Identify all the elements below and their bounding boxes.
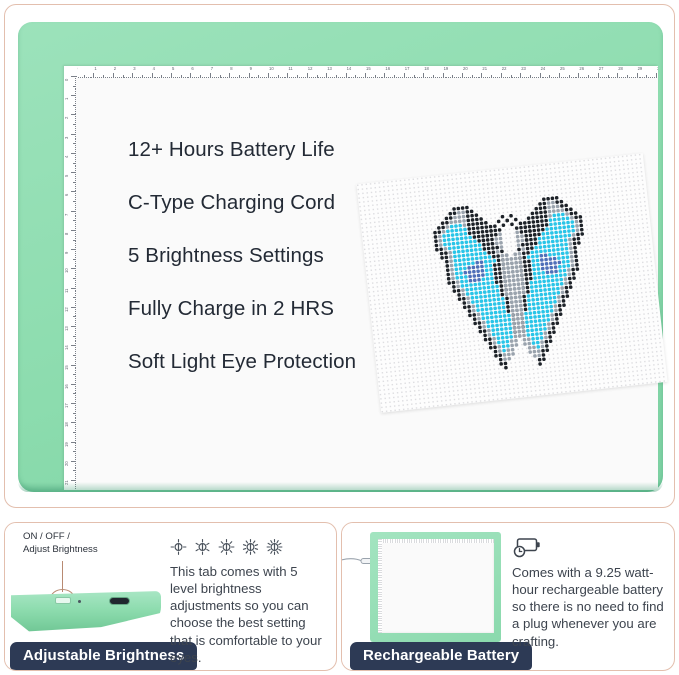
- light-pad-top: [370, 532, 501, 642]
- usb-c-port: [109, 597, 130, 605]
- butterfly-artwork-icon: [356, 153, 667, 413]
- card-body-brightness: This tab comes with 5 level brightness a…: [170, 536, 328, 664]
- brightness-level-icon-4: [242, 538, 259, 556]
- pad-ruler-horizontal: [378, 539, 494, 543]
- callout-line-2: Adjust Brightness: [23, 544, 98, 555]
- callout-line-1: ON / OFF /: [23, 531, 70, 542]
- card-adjustable-brightness: ON / OFF / Adjust Brightness Adjustable …: [4, 522, 337, 671]
- power-button[interactable]: [55, 597, 71, 604]
- light-pad-body: 0123456789101112131415161718192021222324…: [18, 22, 663, 492]
- card-text-brightness: This tab comes with 5 level brightness a…: [170, 563, 328, 666]
- brightness-level-icon-1: [170, 538, 187, 556]
- card-rechargeable-battery: Rechargeable Battery Comes with a 9.25 w…: [341, 522, 675, 671]
- light-pad-screen: [378, 539, 494, 633]
- hero-panel: 0123456789101112131415161718192021222324…: [4, 4, 675, 508]
- brightness-level-icon-2: [194, 538, 211, 556]
- light-pad-edge: [11, 591, 161, 633]
- pad-ruler-vertical: [378, 539, 382, 633]
- led-indicator-icon: [78, 600, 81, 603]
- card-text-battery: Comes with a 9.25 watt-hour rechargeable…: [512, 564, 666, 650]
- brightness-level-icon-row: [170, 536, 328, 558]
- diamond-painting-canvas: [356, 153, 667, 413]
- callout-label: ON / OFF / Adjust Brightness: [23, 531, 98, 556]
- light-pad-surface: 0123456789101112131415161718192021222324…: [64, 66, 658, 490]
- badge-rechargeable-battery: Rechargeable Battery: [350, 642, 532, 670]
- light-pad-work-area: 12+ Hours Battery Life C-Type Charging C…: [76, 78, 658, 490]
- battery-clock-icon: [512, 536, 542, 560]
- card-body-battery: Comes with a 9.25 watt-hour rechargeable…: [512, 536, 666, 664]
- feature-item-battery-life: 12+ Hours Battery Life: [128, 138, 428, 162]
- brightness-level-icon-3: [218, 538, 235, 556]
- product-infographic: 0123456789101112131415161718192021222324…: [0, 0, 679, 675]
- brightness-level-icon-5: [266, 538, 283, 556]
- callout-leader-line: [62, 561, 63, 592]
